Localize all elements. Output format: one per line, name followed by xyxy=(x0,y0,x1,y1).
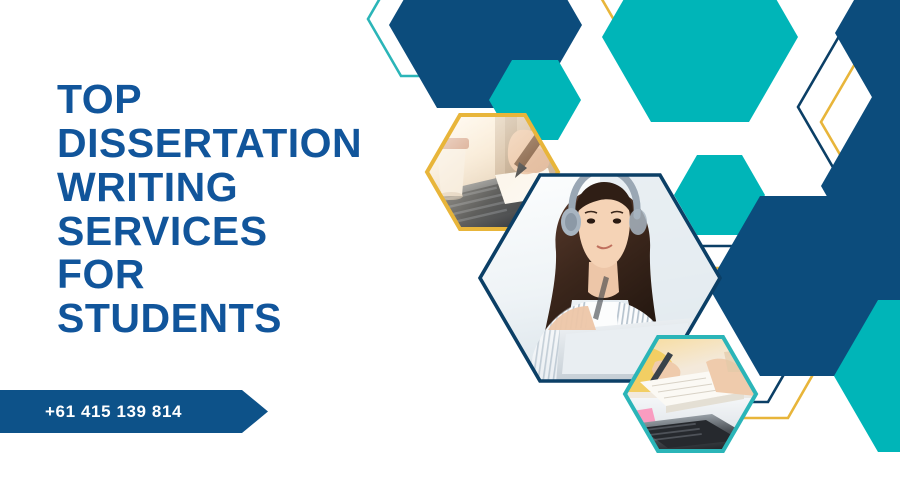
hex-solid-teal-large-right xyxy=(602,0,798,122)
phone-number-banner[interactable]: +61 415 139 814 xyxy=(0,390,268,433)
headline-title: TOP DISSERTATION WRITING SERVICES FOR ST… xyxy=(57,78,437,341)
phone-number-text: +61 415 139 814 xyxy=(0,402,182,422)
promo-banner: TOP DISSERTATION WRITING SERVICES FOR ST… xyxy=(0,0,900,500)
